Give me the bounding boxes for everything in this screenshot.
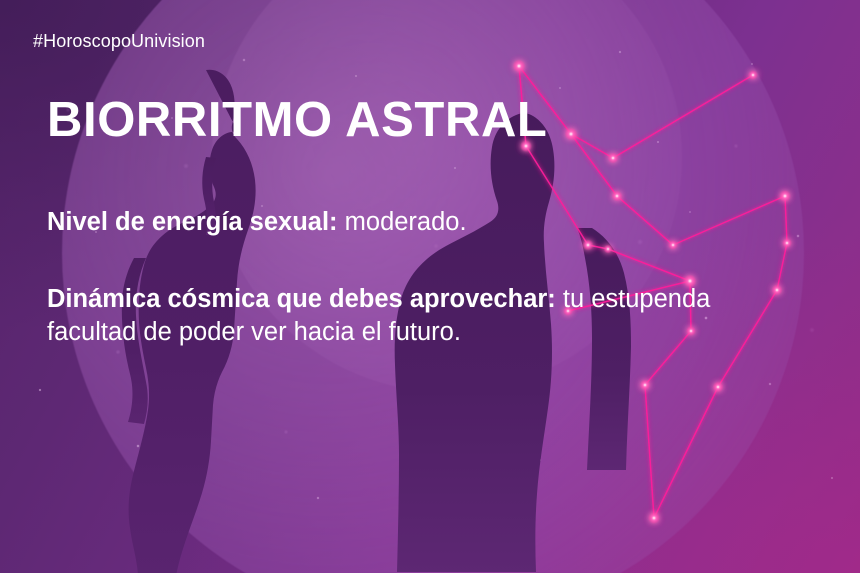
horoscope-card: #HoroscopoUnivision BIORRITMO ASTRAL Niv… — [0, 0, 860, 573]
hashtag-label: #HoroscopoUnivision — [33, 31, 205, 52]
horoscope-body: Nivel de energía sexual: moderado. Dinám… — [47, 206, 792, 350]
paragraph-energy-level: Nivel de energía sexual: moderado. — [47, 206, 792, 240]
page-title: BIORRITMO ASTRAL — [47, 96, 547, 145]
paragraph-energy-level-label: Nivel de energía sexual: — [47, 208, 338, 236]
paragraph-cosmic-dynamic-label: Dinámica cósmica que debes aprovechar: — [47, 285, 556, 313]
paragraph-energy-level-value: moderado. — [338, 208, 467, 236]
paragraph-cosmic-dynamic: Dinámica cósmica que debes aprovechar: t… — [47, 283, 792, 350]
